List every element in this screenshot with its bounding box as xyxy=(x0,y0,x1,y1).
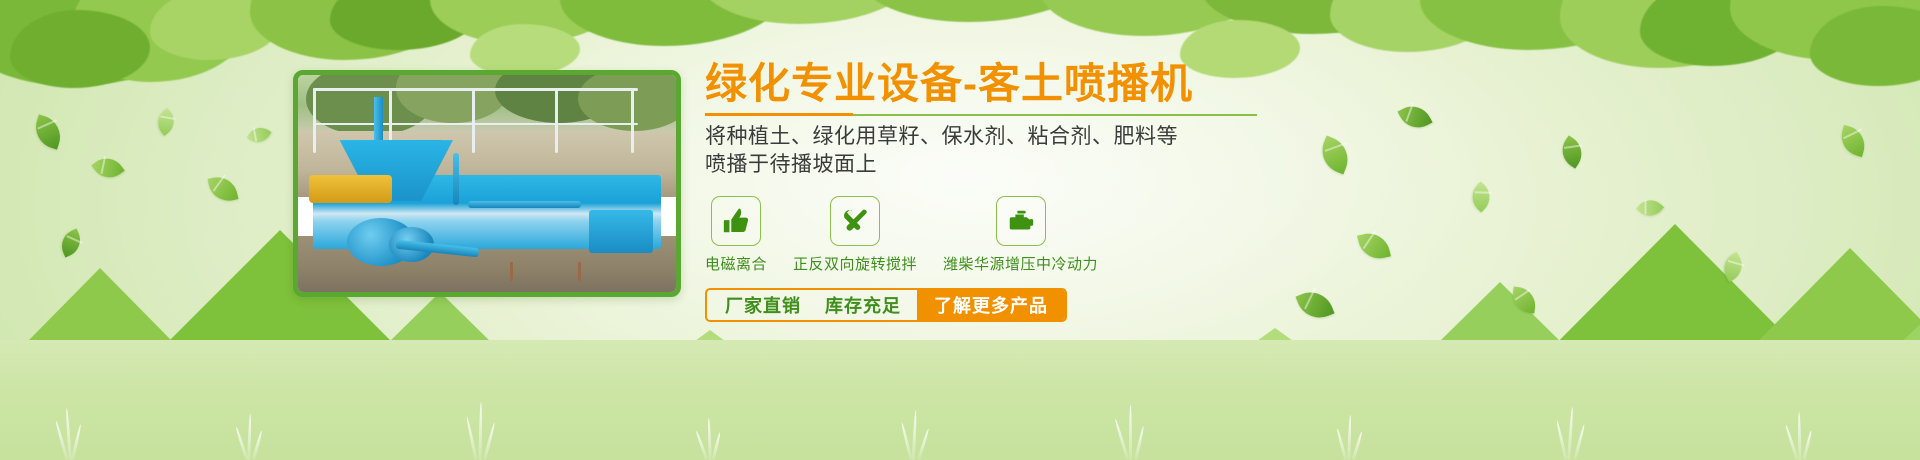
feature-item-0: 电磁离合 xyxy=(705,196,767,274)
banner-content: 绿化专业设备-客土喷播机 将种植土、绿化用草籽、保水剂、粘合剂、肥料等 喷播于待… xyxy=(705,60,1325,322)
product-photo-image xyxy=(298,75,676,292)
cta-bar: 厂家直销 库存充足 了解更多产品 xyxy=(705,288,1067,322)
promo-banner: 绿化专业设备-客土喷播机 将种植土、绿化用草籽、保水剂、粘合剂、肥料等 喷播于待… xyxy=(0,0,1920,460)
feature-item-2: 潍柴华源增压中冷动力 xyxy=(943,196,1098,274)
divider-green-segment xyxy=(853,114,1257,116)
engine-icon xyxy=(996,196,1046,246)
divider-orange-segment xyxy=(705,113,853,116)
grass-decoration xyxy=(0,340,1920,460)
subtitle-line-1: 将种植土、绿化用草籽、保水剂、粘合剂、肥料等 xyxy=(705,123,1325,151)
page-title: 绿化专业设备-客土喷播机 xyxy=(705,60,1325,107)
product-photo[interactable] xyxy=(293,70,681,297)
feature-item-1: 正反双向旋转搅拌 xyxy=(793,196,917,274)
title-divider xyxy=(705,113,1257,116)
feature-label-2: 潍柴华源增压中冷动力 xyxy=(943,253,1098,274)
subtitle-line-2: 喷播于待播坡面上 xyxy=(705,151,1325,179)
cta-tag-2: 库存充足 xyxy=(825,292,901,318)
cta-tag-1: 厂家直销 xyxy=(725,292,801,318)
feature-label-1: 正反双向旋转搅拌 xyxy=(793,253,917,274)
feature-label-0: 电磁离合 xyxy=(705,253,767,274)
feature-list: 电磁离合 正反双向旋转搅拌 xyxy=(705,196,1325,274)
learn-more-button[interactable]: 了解更多产品 xyxy=(917,290,1065,320)
wrench-screwdriver-icon xyxy=(830,196,880,246)
cta-tags: 厂家直销 库存充足 xyxy=(707,290,917,320)
thumbs-up-icon xyxy=(711,196,761,246)
